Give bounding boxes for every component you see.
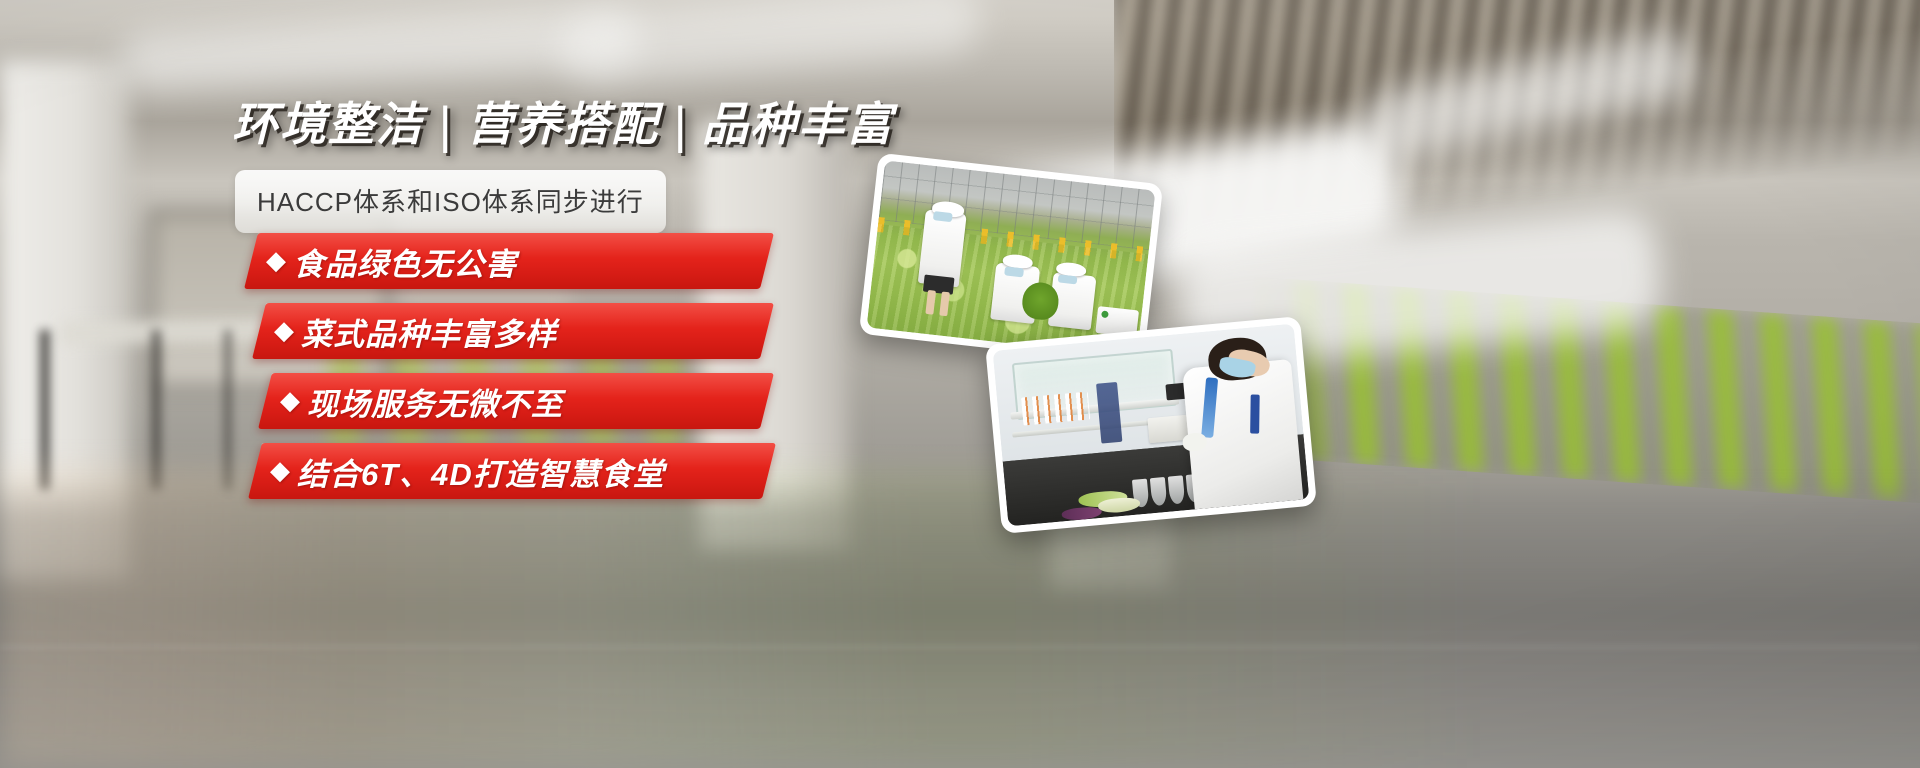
feature-item-3-text: ◆ 现场服务无微不至: [258, 379, 563, 424]
feature-item-1-text: ◆ 食品绿色无公害: [244, 239, 517, 284]
headline-segment-1: 环境整洁: [232, 98, 424, 150]
feature-item-4-label: 结合6T、4D打造智慧食堂: [297, 449, 665, 494]
certification-badge: HACCP体系和ISO体系同步进行: [235, 170, 666, 233]
headline: 环境整洁|营养搭配|品种丰富: [232, 98, 894, 148]
feature-list: ◆ 食品绿色无公害 ◆ 菜式品种丰富多样 ◆ 现场服务无微不至: [0, 233, 762, 513]
headline-separator: |: [673, 100, 688, 150]
diamond-bullet-icon: ◆: [270, 455, 291, 486]
headline-segment-3: 品种丰富: [702, 98, 894, 150]
feature-item-2[interactable]: ◆ 菜式品种丰富多样: [252, 303, 760, 359]
laboratory-testing-photo: [985, 316, 1317, 534]
feature-item-1-label: 食品绿色无公害: [293, 239, 517, 284]
feature-item-4[interactable]: ◆ 结合6T、4D打造智慧食堂: [248, 443, 762, 499]
feature-item-2-text: ◆ 菜式品种丰富多样: [252, 309, 557, 354]
feature-item-3-label: 现场服务无微不至: [307, 379, 563, 424]
diamond-bullet-icon: ◆: [274, 315, 295, 346]
feature-item-2-label: 菜式品种丰富多样: [301, 309, 557, 354]
lab-technician-badge-lanyard: [1250, 394, 1260, 433]
headline-separator: |: [438, 100, 453, 150]
headline-segment-2: 营养搭配: [467, 98, 659, 150]
promo-banner: 环境整洁|营养搭配|品种丰富 HACCP体系和ISO体系同步进行 ◆ 食品绿色无…: [0, 0, 1920, 768]
feature-item-1[interactable]: ◆ 食品绿色无公害: [244, 233, 760, 289]
feature-item-3[interactable]: ◆ 现场服务无微不至: [258, 373, 760, 429]
feature-item-4-text: ◆ 结合6T、4D打造智慧食堂: [248, 449, 665, 494]
diamond-bullet-icon: ◆: [280, 385, 301, 416]
diamond-bullet-icon: ◆: [266, 245, 287, 276]
